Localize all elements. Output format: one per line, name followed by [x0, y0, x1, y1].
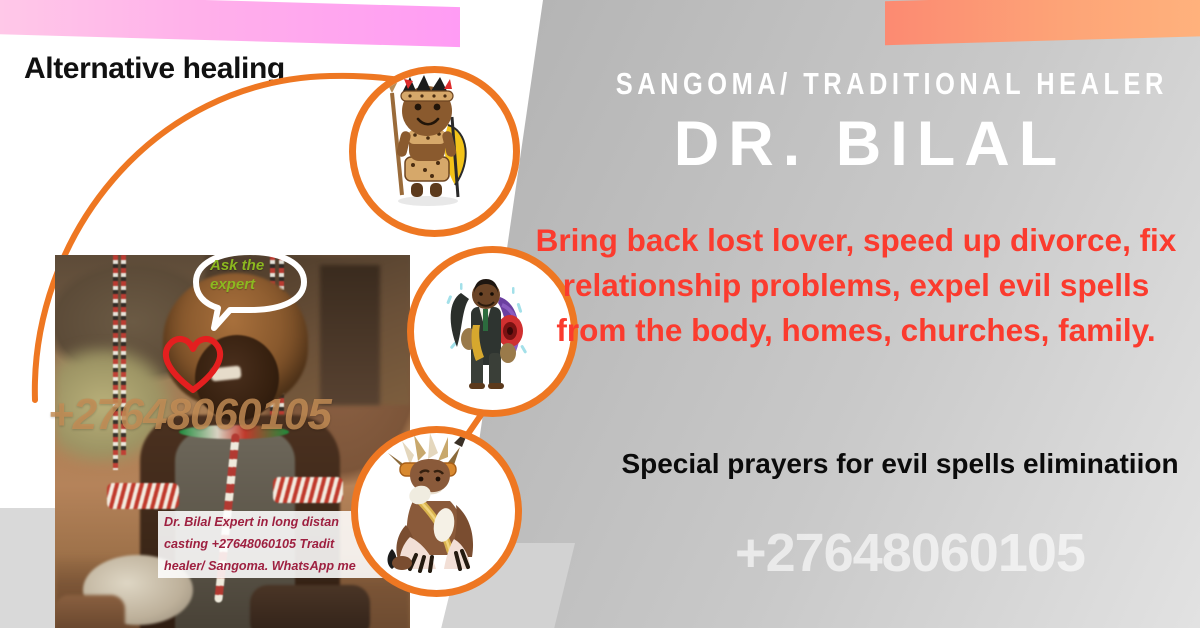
kicker-text: SANGOMA/ TRADITIONAL HEALER	[616, 66, 1124, 102]
page-title: Alternative healing	[24, 52, 285, 86]
healer-name: DR. BILAL	[560, 108, 1180, 180]
services-text: Bring back lost lover, speed up divorce,…	[533, 218, 1179, 353]
poster-canvas: Alternative healing	[0, 0, 1200, 628]
pink-band	[0, 0, 460, 47]
speech-bubble-label: Ask the expert	[210, 256, 296, 294]
prayers-text: Special prayers for evil spells eliminat…	[620, 443, 1180, 485]
phone-watermark: +27648060105	[620, 522, 1200, 584]
heart-icon	[158, 330, 228, 396]
caption-line-2: casting +27648060105 Tradit	[158, 533, 388, 555]
circle-crouching-sangoma	[351, 426, 522, 597]
photo-phone-watermark: +27648060105	[48, 390, 331, 440]
grey-block-bottom-left	[0, 508, 56, 628]
caption-line-3: healer/ Sangoma. WhatsApp me	[158, 555, 388, 577]
circle-zulu-warrior-cartoon	[349, 66, 520, 237]
